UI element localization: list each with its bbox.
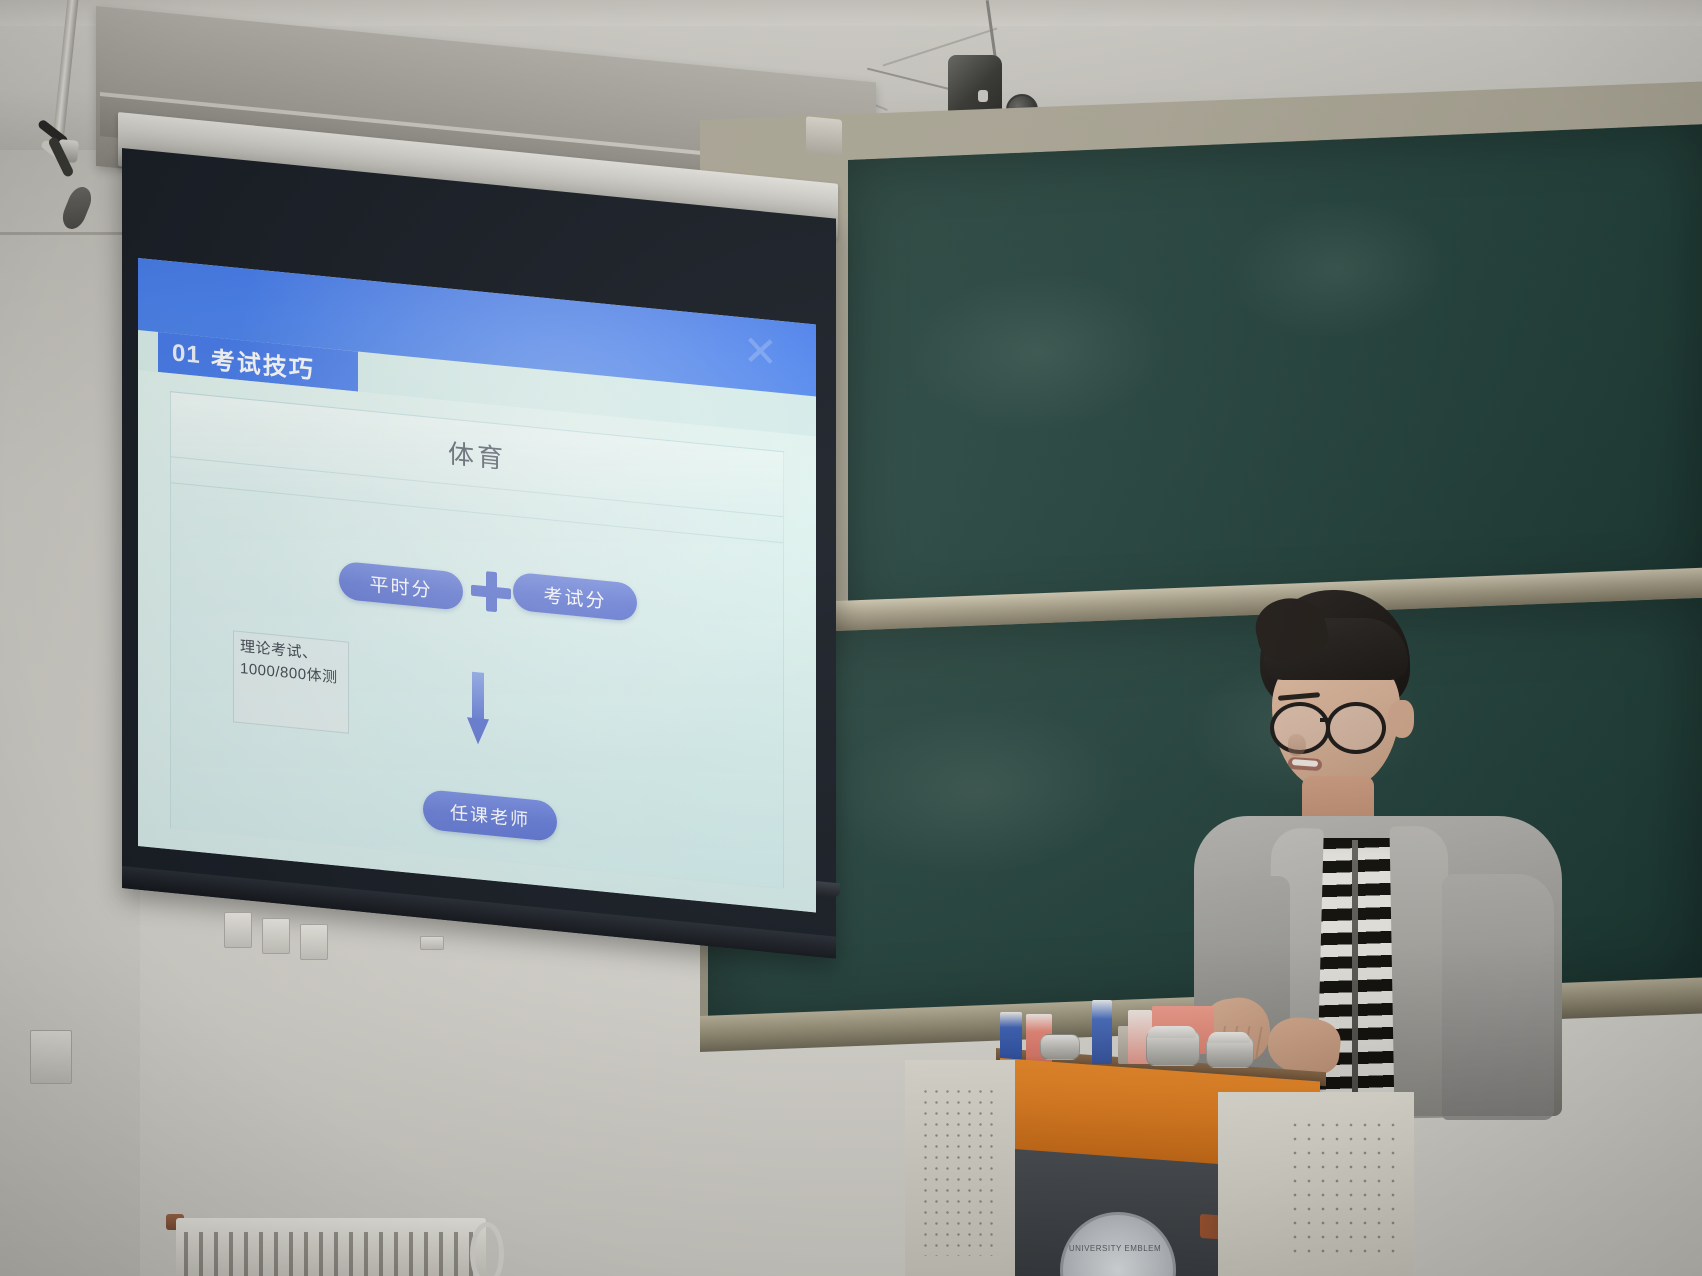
eyeglasses-right-lens [1326,702,1386,754]
wall-switch-1[interactable] [224,912,252,948]
wall-panel-left [30,1030,72,1084]
down-arrow-icon [467,671,489,747]
slide-section-number: 01 [172,339,201,370]
chalk-smudge [908,267,1168,438]
board-eraser-1-top [1148,1026,1196,1038]
pill-daily-score: 平时分 [339,561,463,611]
pill-exam-score: 考试分 [513,572,637,622]
radiator-fins [184,1232,480,1276]
speaker-grille-right [1288,1118,1400,1260]
wall-switch-3[interactable] [300,924,328,960]
presenter-ear [1388,700,1414,738]
board-eraser-2-top [1208,1032,1250,1043]
projected-slide: ✕ 01 考试技巧 体育 平时分 考试分 理论考试、1000/800体测 任课老… [138,258,816,912]
left-wall-panel [0,150,140,1276]
pill-teacher: 任课老师 [423,789,557,842]
speaker-grille-left [920,1086,998,1256]
projection-screen-housing-end [806,116,842,156]
slide-card-header: 体育 [171,392,783,517]
blackboard-upper-panel [848,124,1702,628]
chalk-smudge [1228,195,1448,344]
wall-outlet[interactable] [420,936,444,950]
chalk-box-blue [1000,1012,1022,1064]
slide-card: 体育 平时分 考试分 理论考试、1000/800体测 任课老师 [170,391,784,889]
lectern-emblem-text: UNIVERSITY EMBLEM [1068,1244,1162,1253]
classroom-scene: ✕ 01 考试技巧 体育 平时分 考试分 理论考试、1000/800体测 任课老… [0,0,1702,1276]
slide-card-heading: 体育 [448,433,506,476]
slide-watermark: ✕ [743,325,780,378]
chalk-smudge [828,700,1128,882]
slide-body: 体育 平时分 考试分 理论考试、1000/800体测 任课老师 [138,370,816,912]
wall-switch-2[interactable] [262,918,290,954]
camera-highlight [978,90,988,102]
board-eraser-small [1040,1034,1080,1060]
eyeglasses-bridge [1320,718,1330,722]
presenter-nose [1288,734,1306,756]
plus-icon [471,570,511,614]
wall-seam [0,232,135,235]
chalk-box-blue-2 [1092,1000,1112,1064]
note-box: 理论考试、1000/800体测 [233,630,349,733]
